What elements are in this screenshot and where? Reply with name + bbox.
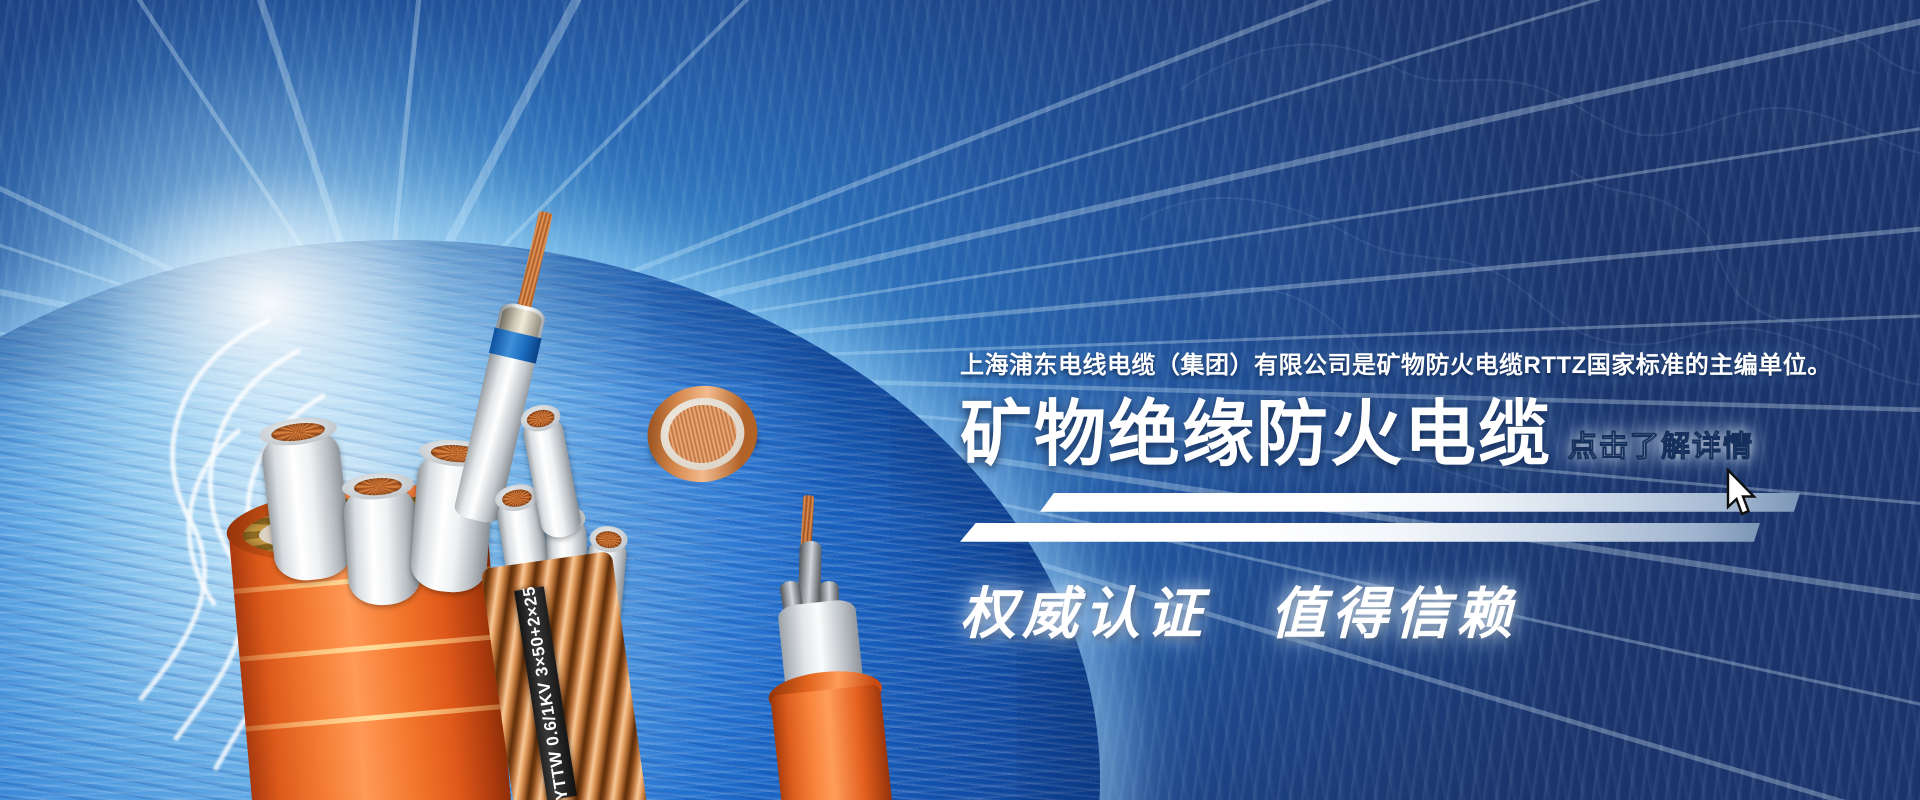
decorative-bar-bottom [960,523,1760,542]
banner-tagline: 权威认证 值得信赖 [960,569,1910,650]
banner-copy: 上海浦东电线电缆（集团）有限公司是矿物防火电缆RTTZ国家标准的主编单位。 矿物… [960,352,1910,650]
cable-orange-small [770,684,893,800]
learn-more-link[interactable]: 点击了解详情 [1568,423,1754,465]
cable-product-image: YTTW 0.6/1KV 3×50+2×25 [0,0,1100,800]
page-title: 矿物绝缘防火电缆 [960,399,1552,471]
cable-orange-sheath [770,684,893,800]
decorative-bars [960,493,1822,557]
cable-core [342,483,422,608]
banner-subtitle: 上海浦东电线电缆（集团）有限公司是矿物防火电缆RTTZ国家标准的主编单位。 [960,352,1910,381]
hero-banner: YTTW 0.6/1KV 3×50+2×25 上海浦东电线电缆（集团）有限公司是… [0,0,1920,800]
decorative-bar-top [1040,493,1800,512]
headline-row: 矿物绝缘防火电缆 点击了解详情 [960,399,1910,471]
cable-core [259,426,355,584]
